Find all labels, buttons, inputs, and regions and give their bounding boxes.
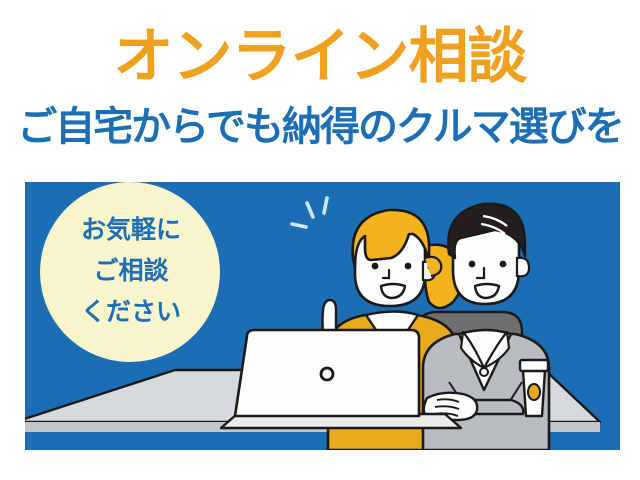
badge-circle xyxy=(40,182,220,362)
online-consultation-banner: オンライン相談 ご自宅からでも納得のクルマ選びを xyxy=(0,0,640,480)
page-title: オンライン相談 xyxy=(0,26,640,88)
laptop-lid xyxy=(235,330,419,416)
cup-logo-icon xyxy=(528,384,540,400)
cup-lid xyxy=(520,360,548,371)
woman-right-eye xyxy=(405,263,412,270)
man-ear xyxy=(517,258,529,277)
man-shirt-button xyxy=(480,368,488,376)
man-right-eye xyxy=(500,261,507,268)
page-subtitle: ご自宅からでも納得のクルマ選びを xyxy=(0,104,640,150)
man-left-eye xyxy=(469,261,476,268)
illustration-svg xyxy=(25,182,620,450)
woman-left-eye xyxy=(372,263,379,270)
banner-heading: オンライン相談 ご自宅からでも納得のクルマ選びを xyxy=(0,0,640,178)
illustration-panel: お気軽に ご相談 ください xyxy=(25,182,620,450)
